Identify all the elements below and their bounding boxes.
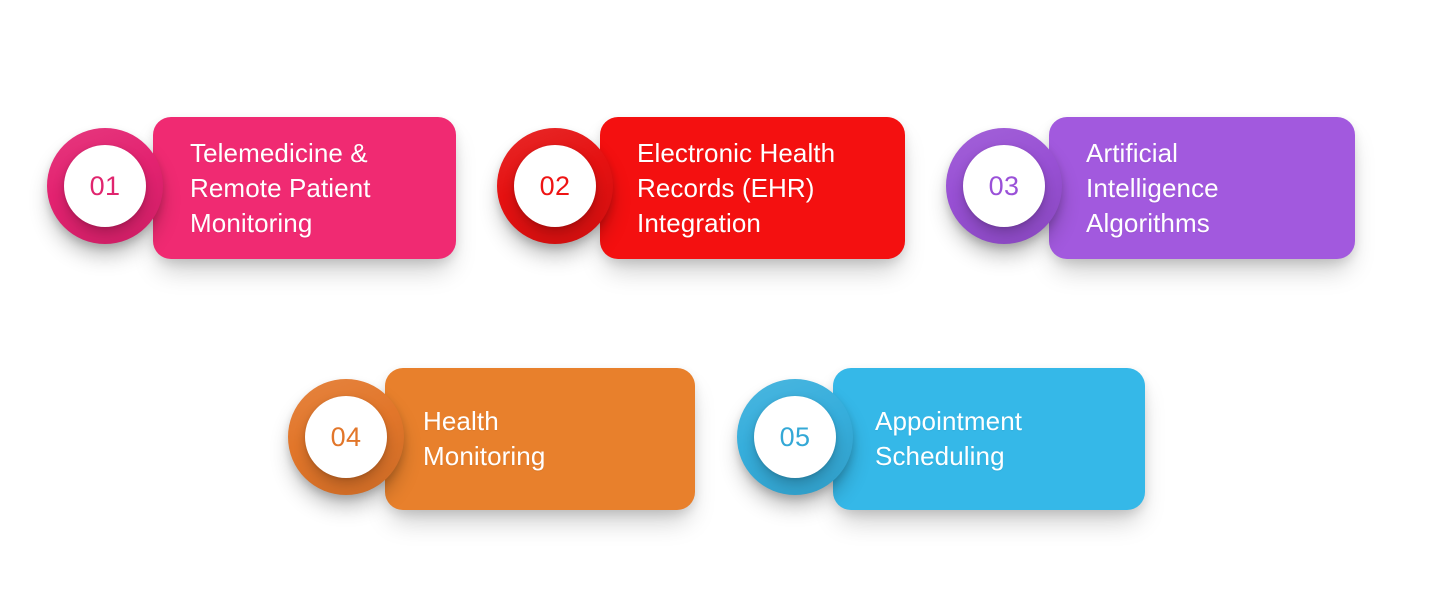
card-badge-inner-02: 02 (514, 145, 596, 227)
infographic-canvas: Telemedicine & Remote Patient Monitoring… (0, 0, 1435, 612)
card-badge-inner-03: 03 (963, 145, 1045, 227)
card-badge-02[interactable]: 02 (497, 128, 613, 244)
card-badge-inner-05: 05 (754, 396, 836, 478)
card-panel-04[interactable]: Health Monitoring (385, 368, 695, 510)
card-label-05: Appointment Scheduling (875, 404, 1022, 474)
card-number-02: 02 (540, 173, 571, 200)
card-label-01: Telemedicine & Remote Patient Monitoring (190, 136, 371, 241)
card-panel-05[interactable]: Appointment Scheduling (833, 368, 1145, 510)
card-number-01: 01 (90, 173, 121, 200)
card-panel-01[interactable]: Telemedicine & Remote Patient Monitoring (153, 117, 456, 259)
card-badge-inner-04: 04 (305, 396, 387, 478)
card-label-04: Health Monitoring (423, 404, 545, 474)
card-label-02: Electronic Health Records (EHR) Integrat… (637, 136, 835, 241)
card-panel-02[interactable]: Electronic Health Records (EHR) Integrat… (600, 117, 905, 259)
card-badge-inner-01: 01 (64, 145, 146, 227)
card-number-05: 05 (780, 424, 811, 451)
card-panel-03[interactable]: Artificial Intelligence Algorithms (1049, 117, 1355, 259)
card-badge-01[interactable]: 01 (47, 128, 163, 244)
card-badge-05[interactable]: 05 (737, 379, 853, 495)
card-number-03: 03 (989, 173, 1020, 200)
card-label-03: Artificial Intelligence Algorithms (1086, 136, 1219, 241)
card-badge-04[interactable]: 04 (288, 379, 404, 495)
card-badge-03[interactable]: 03 (946, 128, 1062, 244)
card-number-04: 04 (331, 424, 362, 451)
